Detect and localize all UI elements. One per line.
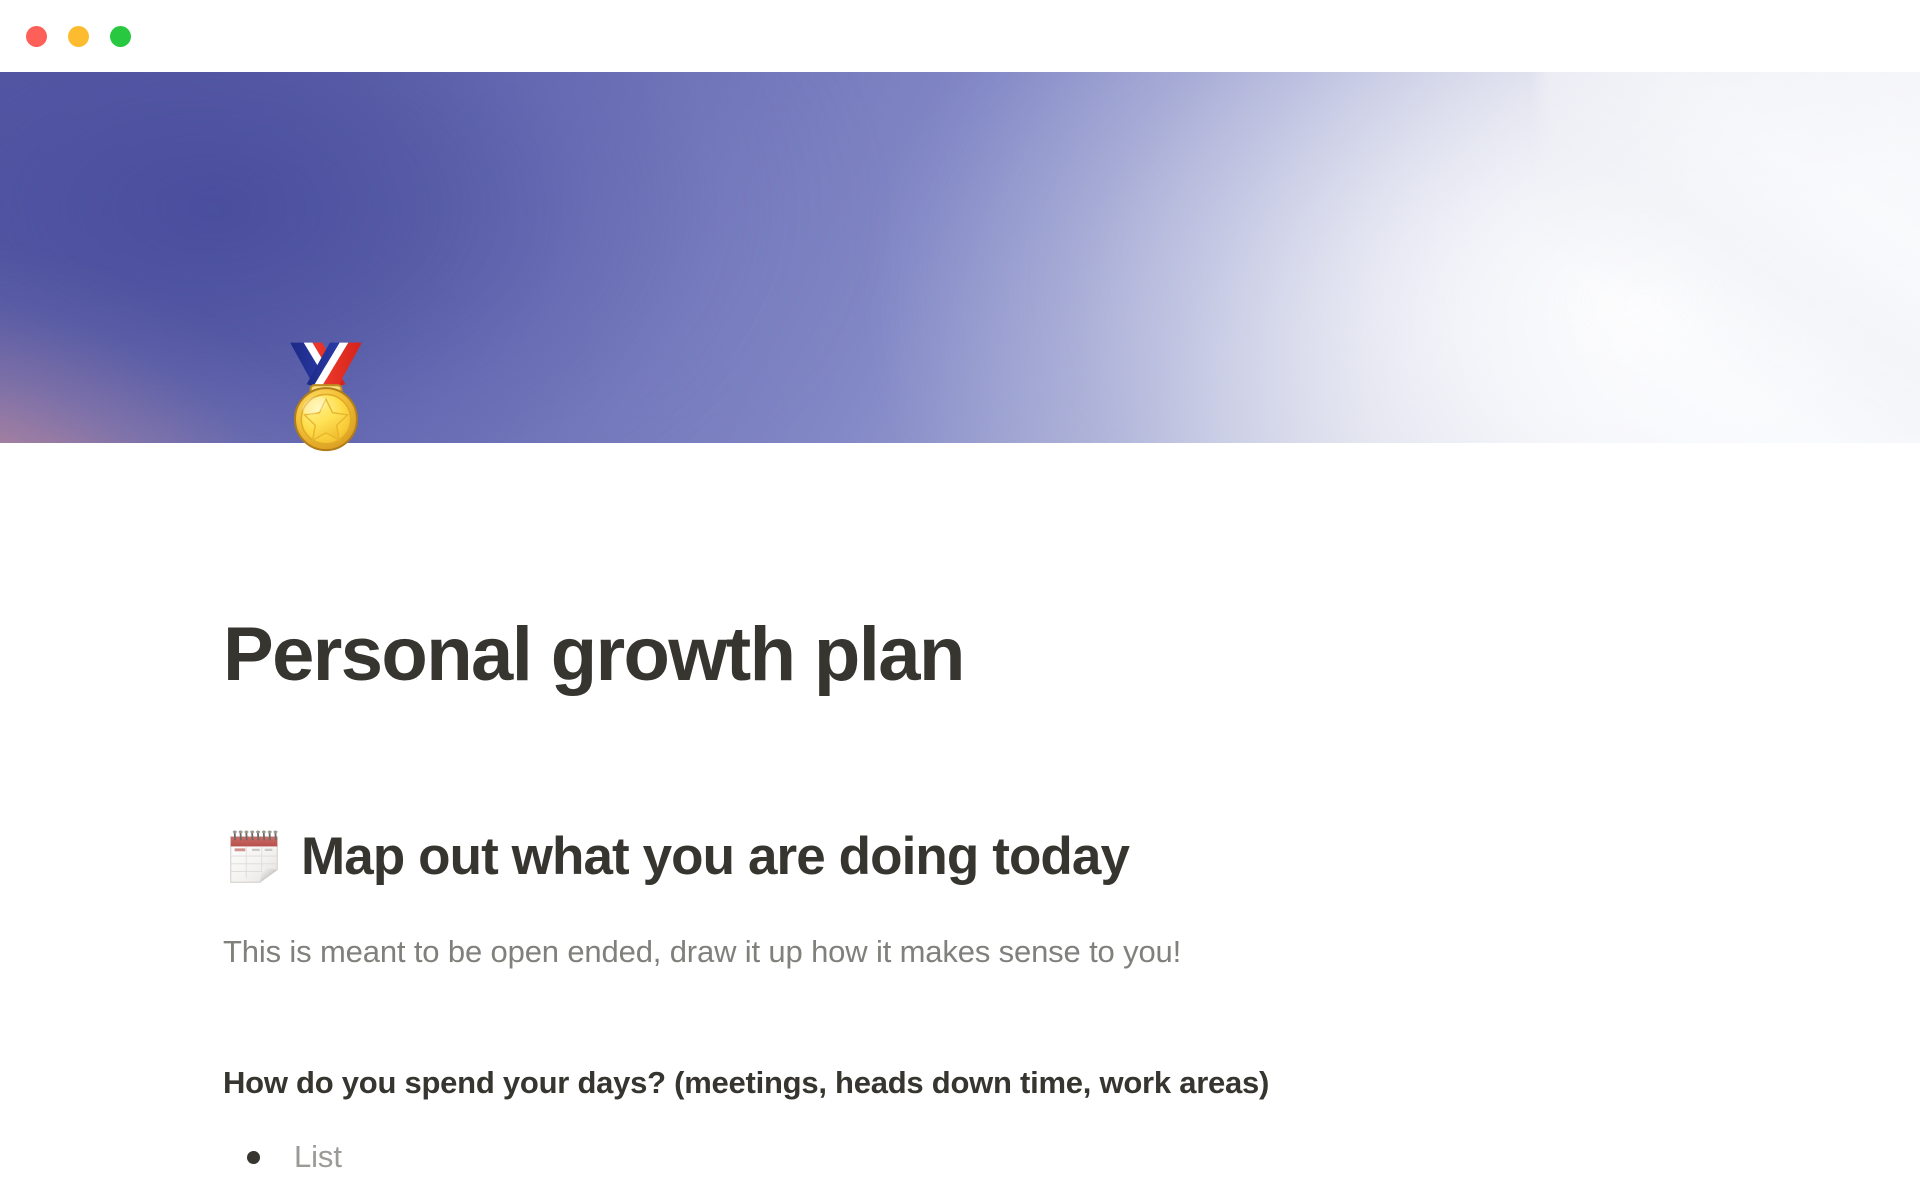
heading-2-text[interactable]: Map out what you are doing today — [301, 826, 1129, 889]
bullet-dot-icon — [247, 1151, 260, 1164]
maximize-window-button[interactable] — [110, 26, 131, 47]
spiral-notepad-emoji-icon — [223, 828, 285, 890]
heading-2-block[interactable]: Map out what you are doing today — [223, 826, 1700, 889]
window-controls — [26, 26, 131, 47]
question-paragraph[interactable]: How do you spend your days? (meetings, h… — [223, 1061, 1700, 1106]
list-item-placeholder[interactable]: List — [294, 1135, 342, 1180]
close-window-button[interactable] — [26, 26, 47, 47]
page-title[interactable]: Personal growth plan — [223, 615, 1700, 694]
minimize-window-button[interactable] — [68, 26, 89, 47]
document-body: Personal growth plan — [0, 443, 1920, 1180]
window-titlebar[interactable] — [0, 0, 1920, 72]
bulleted-list: List — [223, 1135, 1700, 1180]
list-item[interactable]: List — [247, 1135, 1700, 1180]
sports-medal-emoji-icon[interactable] — [264, 330, 388, 454]
cover-gradient-corner — [1540, 72, 1920, 442]
app-window: Personal growth plan — [0, 0, 1920, 1200]
intro-paragraph[interactable]: This is meant to be open ended, draw it … — [223, 930, 1700, 975]
